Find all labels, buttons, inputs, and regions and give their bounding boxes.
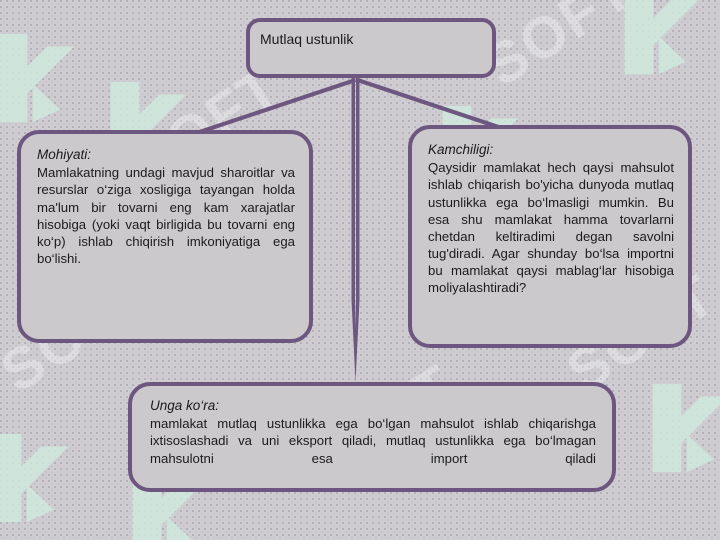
arrow-root-to-unga-kora [352,78,360,382]
y-logo-mark-icon [0,30,76,126]
diagram-canvas: SOFT SOFT SOFT SOFT SOFT [0,0,720,540]
node-kamchiligi[interactable]: Kamchiligi: Qaysidir mamlakat hech qaysi… [408,125,692,348]
node-mohiyati[interactable]: Mohiyati: Mamlakatning undagi mavjud sha… [17,130,313,343]
node-kamchiligi-body: Qaysidir mamlakat hech qaysi mahsulot is… [428,159,674,313]
node-root-text: Mutlaq ustunlik [260,30,482,48]
node-mohiyati-inner: Mohiyati: Mamlakatning undagi mavjud sha… [21,134,309,294]
node-unga-kora-body: mamlakat mutlaq ustunlikka ega bo‘lgan m… [150,415,596,484]
node-mohiyati-title: Mohiyati: [37,146,295,163]
y-logo-mark-icon [612,0,702,78]
node-kamchiligi-inner: Kamchiligi: Qaysidir mamlakat hech qaysi… [412,129,688,324]
watermark-text: SOFT [473,0,646,100]
node-root-inner: Mutlaq ustunlik [250,22,492,56]
node-mohiyati-body: Mamlakatning undagi mavjud sharoitlar va… [37,164,295,284]
node-unga-kora-inner: Unga ko‘ra: mamlakat mutlaq ustunlikka e… [132,386,612,494]
node-root-mutlaq-ustunlik[interactable]: Mutlaq ustunlik [246,18,496,78]
node-unga-kora[interactable]: Unga ko‘ra: mamlakat mutlaq ustunlikka e… [128,382,616,492]
y-logo-mark-icon [0,430,70,526]
node-kamchiligi-title: Kamchiligi: [428,141,674,158]
node-unga-kora-title: Unga ko‘ra: [150,397,596,414]
y-logo-mark-icon [640,380,720,476]
